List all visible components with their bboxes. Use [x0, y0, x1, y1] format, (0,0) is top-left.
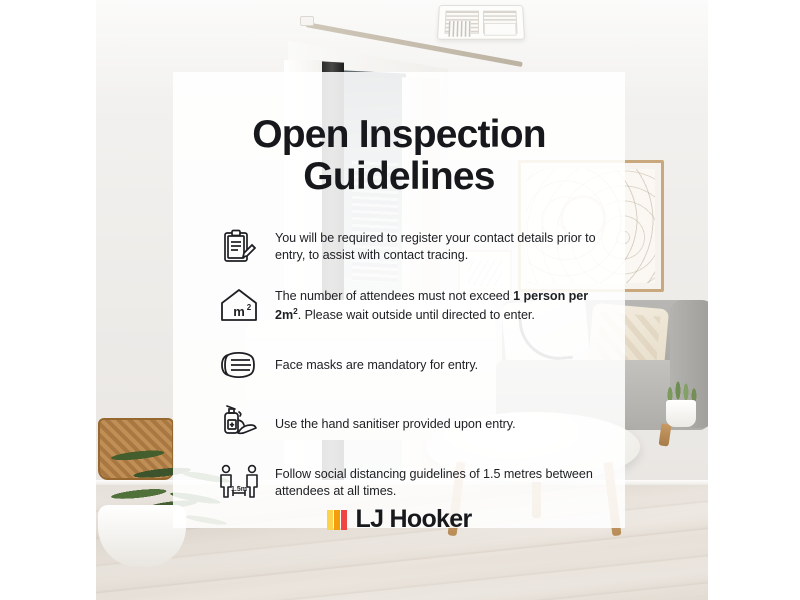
logo-bar-2: [334, 510, 340, 530]
list-item: Face masks are mandatory for entry.: [217, 343, 597, 387]
svg-text:1.5m: 1.5m: [231, 486, 247, 493]
curtain-rail-bracket: [300, 16, 314, 26]
list-item: Use the hand sanitiser provided upon ent…: [217, 402, 597, 446]
title-line-2: Guidelines: [201, 156, 597, 198]
list-item-text: You will be required to register your co…: [275, 230, 597, 266]
title-line-1: Open Inspection: [252, 113, 546, 156]
guidelines-card: Open Inspection Guidelines: [173, 72, 625, 528]
list-item: You will be required to register your co…: [217, 225, 597, 269]
vent-panel: [484, 23, 517, 36]
list-item: m 2 The number of attendees must not exc…: [217, 284, 597, 328]
guidelines-list: You will be required to register your co…: [201, 225, 597, 505]
logo-text: LJ Hooker: [356, 505, 472, 534]
svg-text:2: 2: [247, 303, 252, 312]
face-mask-icon: [217, 343, 261, 387]
clipboard-pencil-icon: [217, 225, 261, 269]
table-plant-pot: [666, 400, 696, 427]
logo-bar-1: [327, 510, 333, 530]
page-title: Open Inspection Guidelines: [201, 114, 597, 197]
list-item-text: Follow social distancing guidelines of 1…: [275, 466, 597, 502]
svg-text:m: m: [233, 304, 245, 319]
poster-canvas: Open Inspection Guidelines: [0, 0, 800, 600]
logo-bar-3: [341, 510, 347, 530]
list-item-text: The number of attendees must not exceed …: [275, 288, 597, 325]
list-item-text: Face masks are mandatory for entry.: [275, 357, 478, 375]
list-item: 1.5m Follow social distancing guidelines…: [217, 461, 597, 505]
lj-hooker-bars-icon: [327, 510, 347, 530]
ceiling-vent-icon: [437, 5, 525, 40]
house-square-metre-icon: m 2: [217, 284, 261, 328]
list-item-text: Use the hand sanitiser provided upon ent…: [275, 416, 516, 434]
hand-sanitiser-icon: [217, 402, 261, 446]
social-distancing-icon: 1.5m: [217, 461, 261, 505]
brand-logo: LJ Hooker: [201, 505, 597, 548]
vent-louvre: [448, 21, 471, 37]
